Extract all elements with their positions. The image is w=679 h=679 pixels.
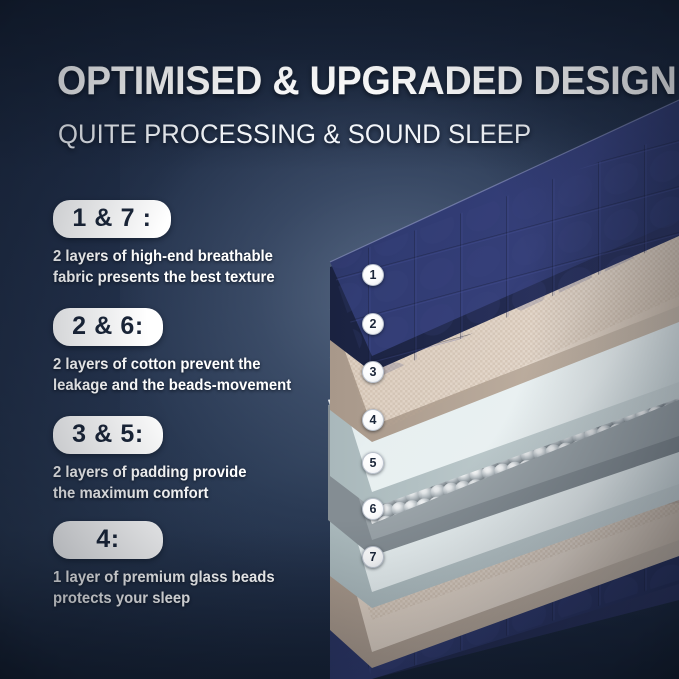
layer-badge-5: 5 <box>362 452 384 474</box>
feature-pill-4: 4: <box>53 521 163 559</box>
feature-pill-label-2: 2 & 6: <box>53 313 163 340</box>
feature-description-3: 2 layers of padding provide the maximum … <box>53 463 246 504</box>
feature-description-2: 2 layers of cotton prevent the leakage a… <box>53 355 291 396</box>
feature-pill-1: 1 & 7 : <box>53 200 171 238</box>
layer-badge-7: 7 <box>362 546 384 568</box>
feature-block-4: 4: 1 layer of premium glass beads protec… <box>53 521 284 609</box>
feature-block-2: 2 & 6: 2 layers of cotton prevent the le… <box>53 308 301 396</box>
feature-description-1: 2 layers of high-end breathable fabric p… <box>53 247 275 288</box>
feature-block-1: 1 & 7 : 2 layers of high-end breathable … <box>53 200 284 288</box>
infographic-canvas: OPTIMISED & UPGRADED DESIGN QUITE PROCES… <box>0 0 679 679</box>
feature-pill-label-1: 1 & 7 : <box>53 205 171 232</box>
layer-badge-3: 3 <box>362 361 384 383</box>
layer-badge-2: 2 <box>362 313 384 335</box>
feature-block-3: 3 & 5: 2 layers of padding provide the m… <box>53 416 255 504</box>
feature-pill-3: 3 & 5: <box>53 416 163 454</box>
feature-pill-2: 2 & 6: <box>53 308 163 346</box>
layer-badge-4: 4 <box>362 409 384 431</box>
page-title: OPTIMISED & UPGRADED DESIGN <box>57 59 621 104</box>
layer-badge-6: 6 <box>362 498 384 520</box>
feature-pill-label-4: 4: <box>53 526 163 553</box>
feature-pill-label-3: 3 & 5: <box>53 421 163 448</box>
feature-description-4: 1 layer of premium glass beads protects … <box>53 568 275 609</box>
layer-badge-1: 1 <box>362 264 384 286</box>
page-subtitle: QUITE PROCESSING & SOUND SLEEP <box>58 119 531 150</box>
